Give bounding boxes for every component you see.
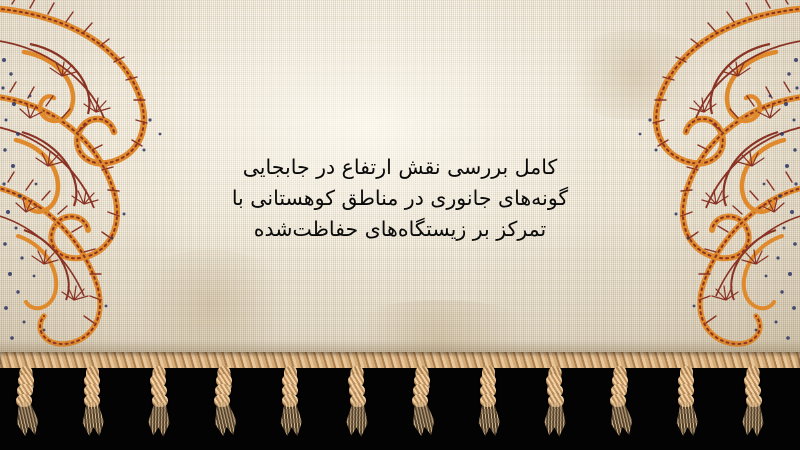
tassel-skirt: [277, 402, 303, 436]
tassel: [471, 368, 505, 446]
tassel-skirt: [209, 401, 239, 438]
tassel-skirt: [737, 401, 767, 438]
fabric-stain: [120, 250, 300, 360]
tassel-skirt: [11, 401, 41, 438]
tassel-skirt: [673, 402, 699, 436]
title-banner-stage: کامل بررسی نقش ارتفاع در جابجایی گونه‌ها…: [0, 0, 800, 450]
tassel-skirt: [539, 401, 569, 438]
tassel: [207, 368, 241, 446]
tassel: [339, 368, 373, 446]
tassel-skirt: [475, 402, 501, 436]
banner-title: کامل بررسی نقش ارتفاع در جابجایی گونه‌ها…: [150, 152, 650, 245]
title-line-2: گونه‌های جانوری در مناطق کوهستانی با: [150, 183, 650, 214]
title-line-1: کامل بررسی نقش ارتفاع در جابجایی: [150, 152, 650, 183]
tassel: [75, 368, 109, 446]
tassel: [603, 368, 637, 446]
tassel: [537, 368, 571, 446]
fabric-stain: [560, 30, 710, 120]
tassel: [405, 368, 439, 446]
tassel: [9, 368, 43, 446]
tassel: [273, 368, 307, 446]
tassel-skirt: [407, 401, 437, 438]
tassel-skirt: [341, 401, 371, 438]
tassel: [141, 368, 175, 446]
tassel-skirt: [143, 401, 173, 438]
tassel-skirt: [605, 401, 635, 438]
tassel: [735, 368, 769, 446]
title-line-3: تمرکز بر زیستگاه‌های حفاظت‌شده: [150, 214, 650, 245]
tassel: [669, 368, 703, 446]
tassel-skirt: [79, 402, 105, 436]
